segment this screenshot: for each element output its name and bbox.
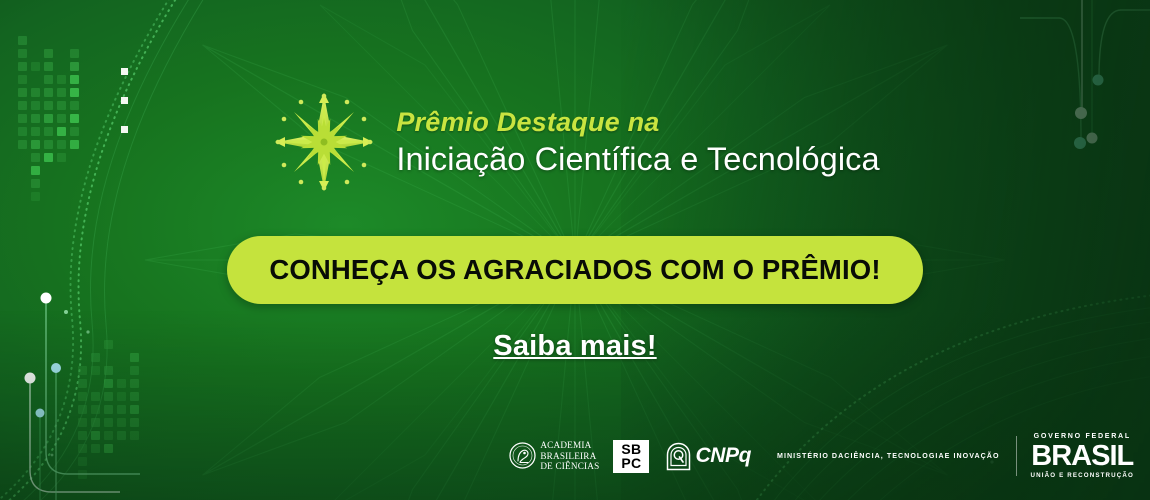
logo-cnpq: CNPq bbox=[665, 442, 751, 471]
title-eyebrow: Prêmio Destaque na bbox=[396, 109, 879, 136]
logo-academia-brasileira-de-ciencias: ACADEMIA BRASILEIRA DE CIÊNCIAS bbox=[509, 440, 613, 472]
logo-divider bbox=[1016, 436, 1017, 476]
secondary-link-container: Saiba mais! bbox=[0, 330, 1150, 363]
cta-container: CONHEÇA OS AGRACIADOS COM O PRÊMIO! bbox=[0, 236, 1150, 304]
academia-brasileira-seal-icon bbox=[509, 442, 536, 469]
abc-line-1: ACADEMIA bbox=[540, 440, 599, 451]
banner-heading: Prêmio Destaque na Iniciação Científica … bbox=[0, 88, 1150, 196]
cnpq-mark-icon bbox=[665, 442, 692, 471]
ministerio-line-1: MINISTÉRIO DA bbox=[777, 451, 844, 462]
saiba-mais-link[interactable]: Saiba mais! bbox=[493, 330, 656, 363]
compass-star-icon bbox=[270, 88, 378, 196]
logo-sbpc: SB PC bbox=[613, 440, 665, 473]
sponsor-logo-bar: ACADEMIA BRASILEIRA DE CIÊNCIAS SB PC bbox=[509, 428, 1134, 484]
abc-line-3: DE CIÊNCIAS bbox=[540, 461, 599, 472]
governo-federal-label: GOVERNO FEDERAL bbox=[1034, 433, 1131, 440]
ministerio-line-3: E INOVAÇÃO bbox=[945, 451, 1000, 462]
academia-brasileira-wordmark: ACADEMIA BRASILEIRA DE CIÊNCIAS bbox=[540, 440, 599, 472]
abc-line-2: BRASILEIRA bbox=[540, 451, 599, 462]
cnpq-wordmark: CNPq bbox=[695, 444, 751, 468]
sbpc-line-2: PC bbox=[621, 456, 641, 470]
sbpc-wordmark: SB PC bbox=[613, 440, 649, 473]
logo-ministerio-ciencia-tecnologia: MINISTÉRIO DA CIÊNCIA, TECNOLOGIA E INOV… bbox=[777, 451, 1000, 462]
sbpc-line-1: SB bbox=[621, 442, 641, 456]
brasil-wordmark: BRASIL bbox=[1031, 442, 1133, 471]
title-block: Prêmio Destaque na Iniciação Científica … bbox=[396, 109, 879, 176]
ministerio-line-2: CIÊNCIA, TECNOLOGIA bbox=[844, 451, 944, 462]
conheca-agraciados-button[interactable]: CONHEÇA OS AGRACIADOS COM O PRÊMIO! bbox=[227, 236, 922, 304]
page-title: Iniciação Científica e Tecnológica bbox=[396, 143, 879, 176]
logo-governo-federal-brasil: GOVERNO FEDERAL BRASIL UNIÃO E RECONSTRU… bbox=[1031, 433, 1134, 479]
uniao-reconstrucao-label: UNIÃO E RECONSTRUÇÃO bbox=[1031, 473, 1134, 479]
banner-content: Prêmio Destaque na Iniciação Científica … bbox=[0, 0, 1150, 500]
promo-banner: Prêmio Destaque na Iniciação Científica … bbox=[0, 0, 1150, 500]
